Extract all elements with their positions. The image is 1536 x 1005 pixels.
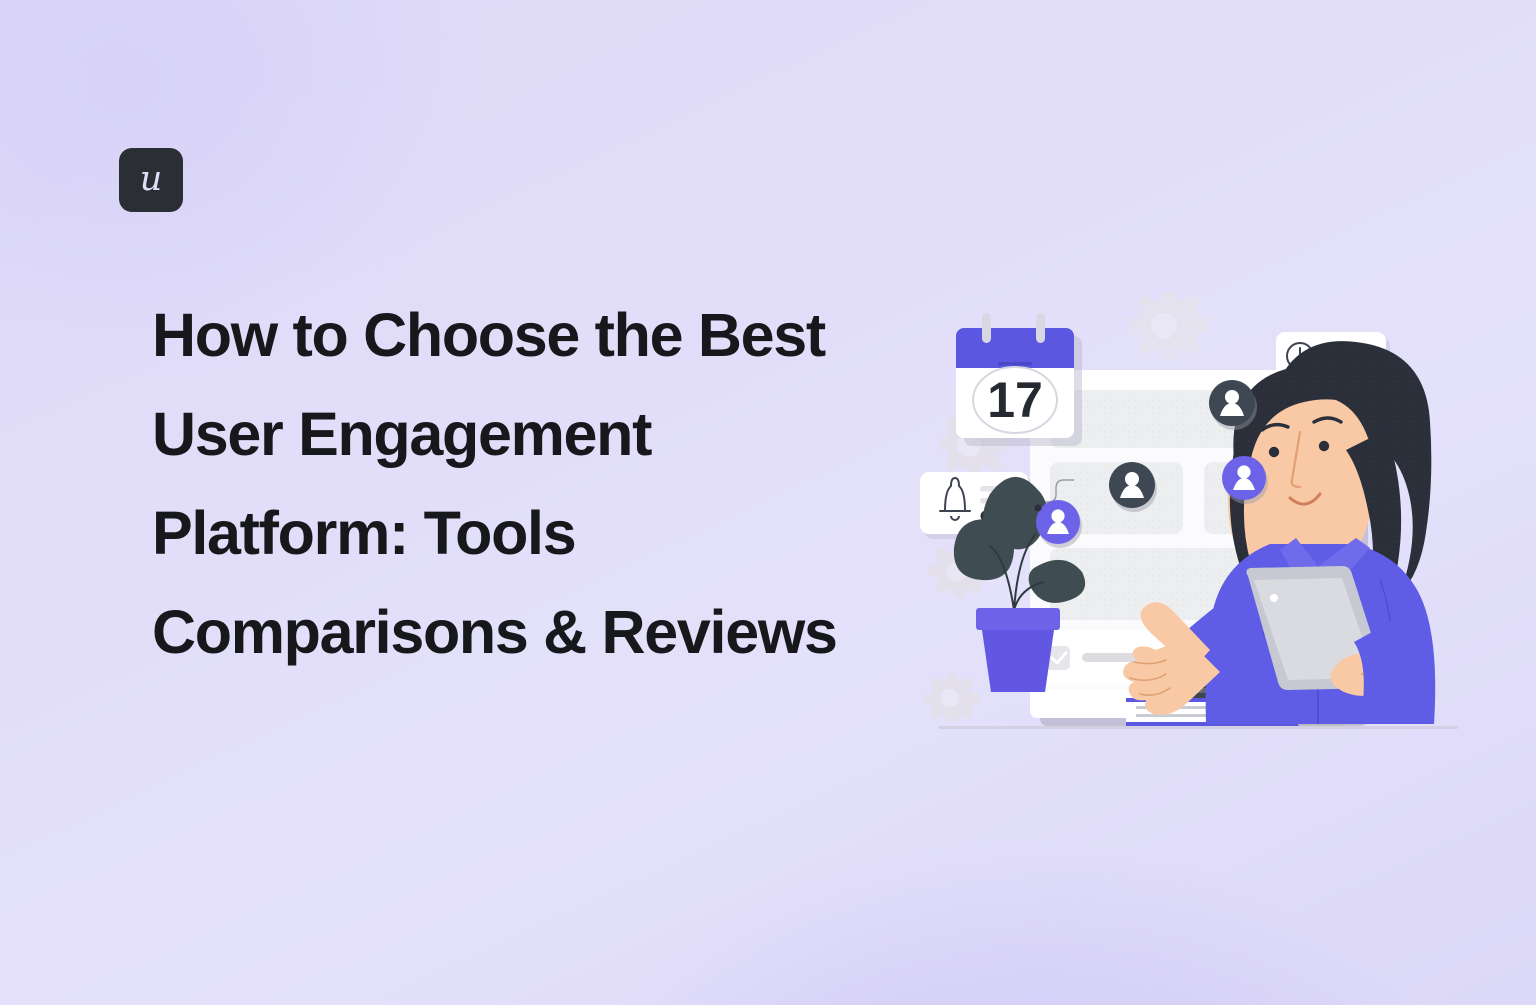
- tablet-camera: [1270, 594, 1278, 602]
- logo-letter: u: [140, 162, 163, 197]
- calendar-date: 17: [987, 372, 1043, 428]
- gear-icon-left-bottom: [925, 674, 979, 723]
- eye-left: [1269, 447, 1279, 457]
- page-title: How to Choose the Best User Engagement P…: [152, 286, 912, 682]
- floor-line: [938, 726, 1458, 729]
- hero-illustration: 17: [918, 280, 1478, 750]
- userpilot-logo[interactable]: u: [119, 148, 183, 212]
- gear-icon-top: [1130, 291, 1208, 359]
- calendar-widget: 17: [956, 313, 1082, 446]
- eye-right: [1319, 441, 1329, 451]
- page-root: { "brand": { "logo_glyph": "u", "logo_na…: [0, 0, 1536, 1005]
- plant-pot: [982, 630, 1054, 692]
- plant-pot-rim: [976, 608, 1060, 630]
- connector-endpoint: [1035, 505, 1042, 512]
